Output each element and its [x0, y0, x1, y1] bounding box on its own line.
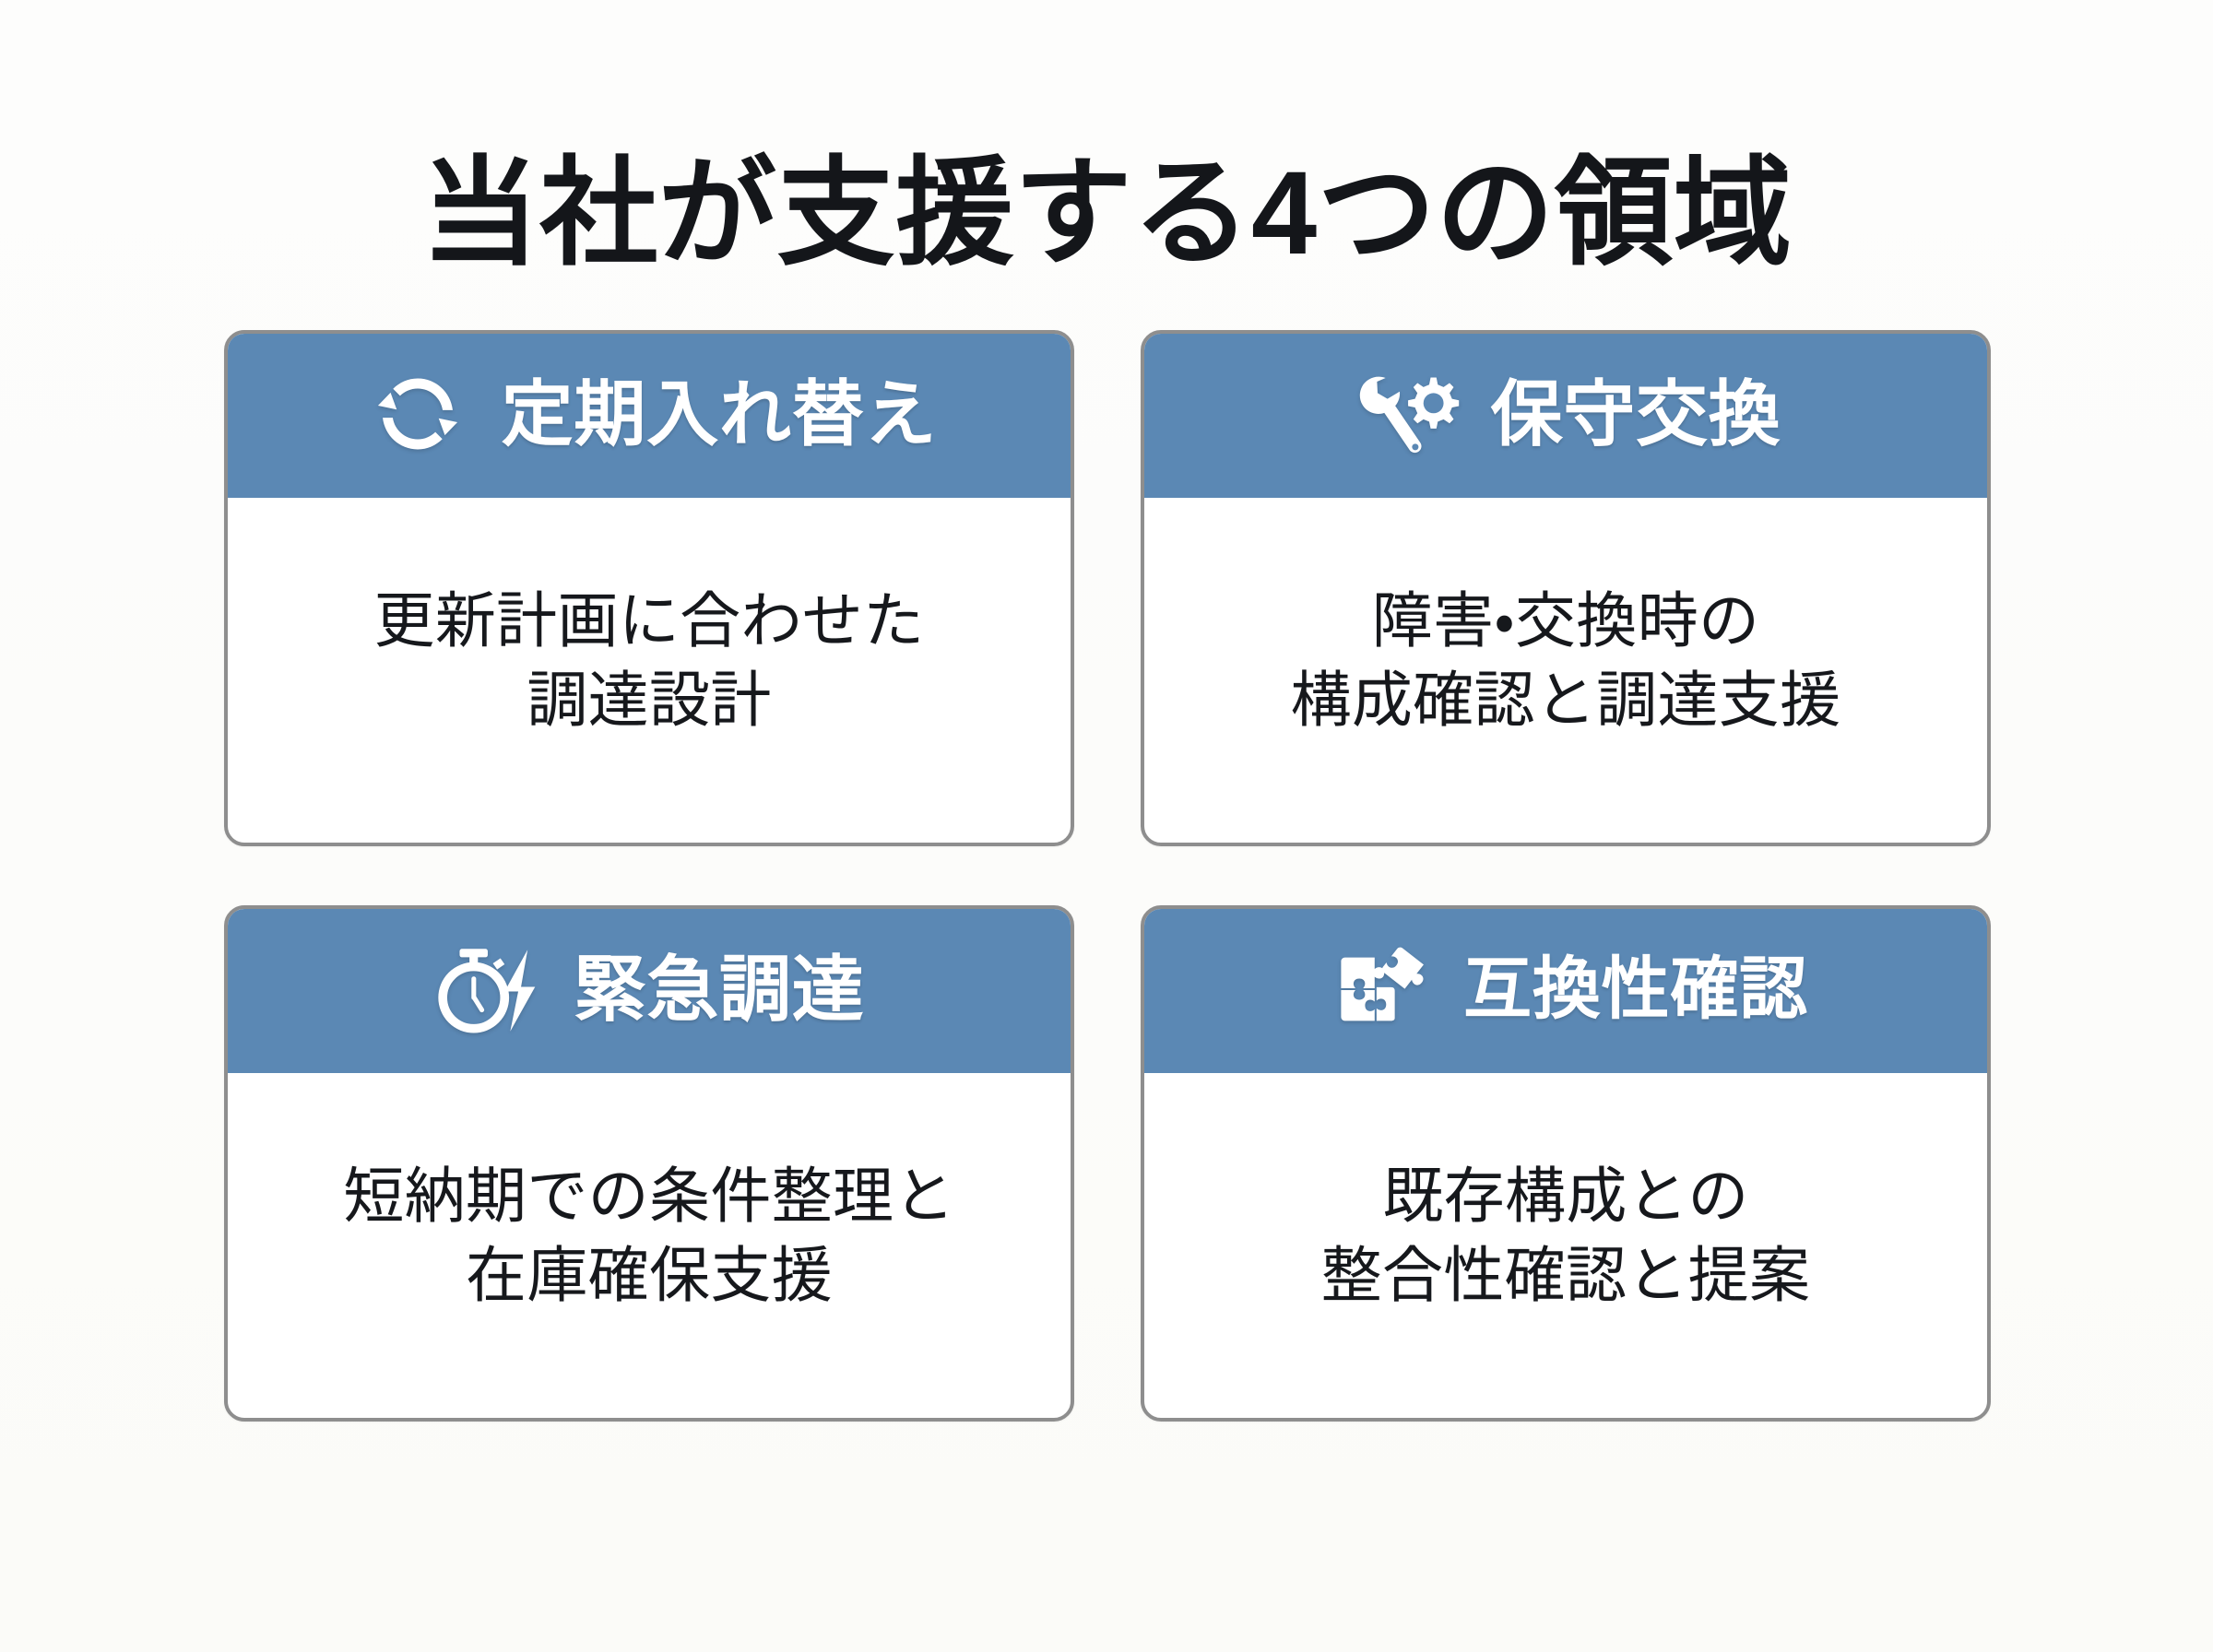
card-body: 更新計画に合わせた 調達設計 [228, 498, 1071, 843]
card-header: 互換性確認 [1141, 905, 1991, 1073]
card-header: 保守交換 [1141, 330, 1991, 498]
card-body-text: 更新計画に合わせた 調達設計 [374, 582, 925, 740]
slide-canvas: 当社が支援する4つの領域 定期入れ替え [0, 0, 2213, 1652]
card-periodic-replacement[interactable]: 定期入れ替え 更新計画に合わせた 調達設計 [224, 330, 1074, 846]
stopwatch-bolt-icon [433, 941, 546, 1037]
card-body-text: 短納期での条件整理と 在庫確保支援 [343, 1157, 954, 1316]
card-header: 定期入れ替え [224, 330, 1074, 498]
puzzle-pieces-icon [1323, 941, 1436, 1037]
wrench-gear-icon [1350, 366, 1462, 462]
card-title: 定期入れ替え [502, 378, 938, 450]
card-emergency-procurement[interactable]: 緊急調達 短納期での条件整理と 在庫確保支援 [224, 905, 1074, 1422]
card-title: 緊急調達 [574, 953, 864, 1025]
card-grid: 定期入れ替え 更新計画に合わせた 調達設計 [224, 330, 1991, 1488]
page-title-container: 当社が支援する4つの領域 [0, 72, 2213, 355]
card-header: 緊急調達 [224, 905, 1074, 1073]
card-body: 障害・交換時の 構成確認と調達支援 [1144, 498, 1987, 843]
card-compatibility-check[interactable]: 互換性確認 既存構成との 整合性確認と提案 [1141, 905, 1991, 1422]
card-maintenance-exchange[interactable]: 保守交換 障害・交換時の 構成確認と調達支援 [1141, 330, 1991, 846]
card-body: 既存構成との 整合性確認と提案 [1144, 1073, 1987, 1418]
card-body: 短納期での条件整理と 在庫確保支援 [228, 1073, 1071, 1418]
card-title: 互換性確認 [1463, 955, 1808, 1023]
card-body-text: 既存構成との 整合性確認と提案 [1321, 1157, 1811, 1316]
card-title: 保守交換 [1490, 378, 1781, 450]
card-body-text: 障害・交換時の 構成確認と調達支援 [1291, 582, 1841, 740]
sync-refresh-icon [361, 366, 474, 462]
page-title: 当社が支援する4つの領域 [421, 151, 1793, 277]
